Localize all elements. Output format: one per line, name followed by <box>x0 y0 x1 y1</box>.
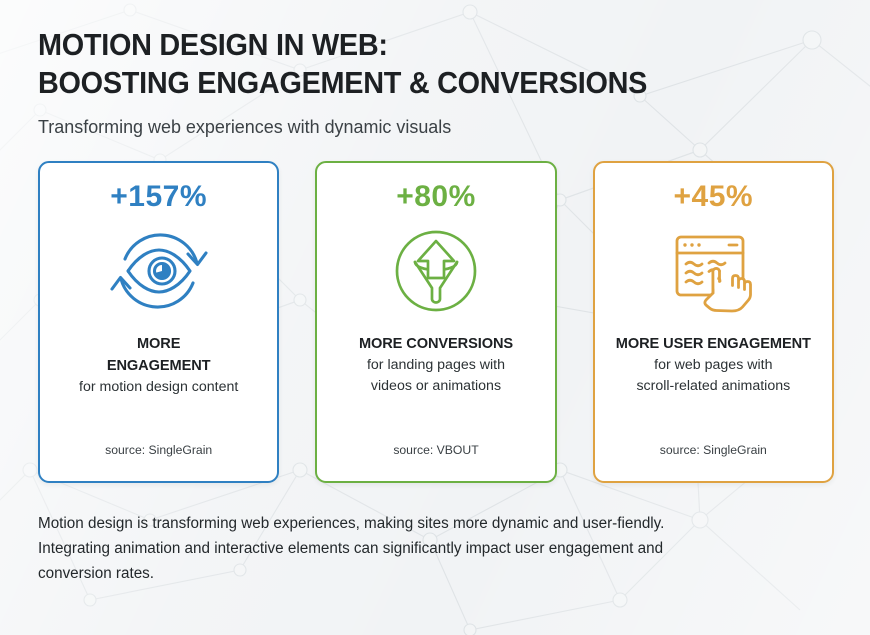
stat-text-block: MORE CONVERSIONS for landing pages with … <box>329 333 542 397</box>
stat-description: for motion design content <box>52 377 265 398</box>
stat-text-block: MORE ENGAGEMENT for motion design conten… <box>52 333 265 398</box>
stat-percentage: +157% <box>110 181 207 213</box>
stat-description: for landing pages with <box>329 355 542 376</box>
browser-click-hand-icon <box>663 219 763 323</box>
page-title-line-2: BOOSTING ENGAGEMENT & CONVERSIONS <box>38 64 778 102</box>
stat-card-more-engagement[interactable]: +157% MO <box>38 161 279 483</box>
footer-paragraph-line-3: conversion rates. <box>38 561 779 586</box>
eye-refresh-icon <box>107 219 211 323</box>
stat-source: source: SingleGrain <box>595 443 832 457</box>
stat-card-more-conversions[interactable]: +80% MORE CONVERSIONS for landing pages … <box>315 161 556 483</box>
header-block: MOTION DESIGN IN WEB: BOOSTING ENGAGEMEN… <box>38 26 834 139</box>
stat-percentage: +45% <box>674 181 754 213</box>
footer-paragraph-line-1: Motion design is transforming web experi… <box>38 511 779 536</box>
footer-paragraph: Motion design is transforming web experi… <box>38 511 779 586</box>
funnel-up-arrow-icon <box>388 219 484 323</box>
page-subtitle: Transforming web experiences with dynami… <box>38 115 810 139</box>
stat-description-second-line: videos or animations <box>329 376 542 397</box>
stat-headline-second-line: ENGAGEMENT <box>52 355 265 377</box>
stat-source: source: SingleGrain <box>40 443 277 457</box>
page-title-line-1: MOTION DESIGN IN WEB: <box>38 26 778 64</box>
stat-text-block: MORE USER ENGAGEMENT for web pages with … <box>607 333 820 397</box>
stat-description: for web pages with <box>607 355 820 376</box>
stat-percentage: +80% <box>396 181 476 213</box>
infographic-page: MOTION DESIGN IN WEB: BOOSTING ENGAGEMEN… <box>0 0 870 635</box>
stat-description-second-line: scroll-related animations <box>607 376 820 397</box>
stat-card-more-user-engagement[interactable]: +45% <box>593 161 834 483</box>
stat-card-list: +157% MO <box>38 161 834 483</box>
stat-headline: MORE <box>52 333 265 355</box>
footer-paragraph-line-2: Integrating animation and interactive el… <box>38 536 779 561</box>
stat-source: source: VBOUT <box>317 443 554 457</box>
stat-headline: MORE USER ENGAGEMENT <box>607 333 820 355</box>
stat-headline: MORE CONVERSIONS <box>329 333 542 355</box>
